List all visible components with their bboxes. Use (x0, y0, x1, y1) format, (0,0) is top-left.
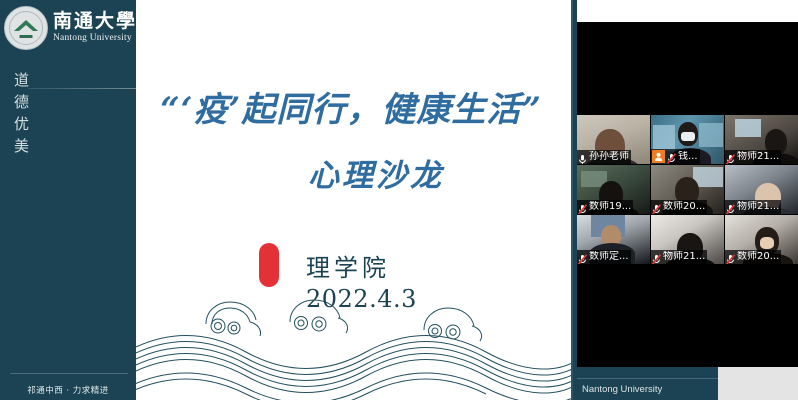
sidebar-footer-motto: 祁通中西 · 力求精进 (0, 384, 136, 396)
mic-off-icon (667, 151, 676, 162)
mic-off-icon (578, 202, 587, 213)
participant-tile[interactable]: 物师21... (725, 165, 798, 214)
participant-label: 孙孙老师 (577, 150, 631, 164)
mic-off-icon (652, 252, 661, 263)
mic-off-icon (726, 252, 735, 263)
participant-tile[interactable]: 数师定... (577, 215, 650, 264)
screenshot-root: 南通大學 Nantong University 道德优美 祁通中西 · 力求精进… (0, 0, 798, 400)
participant-tile[interactable]: 数师20... (651, 165, 724, 214)
video-panel-top-gap (573, 0, 798, 22)
participant-tile[interactable]: 孙孙老师 (577, 115, 650, 164)
video-conference-panel: 孙孙老师 (573, 0, 798, 400)
mic-on-icon (578, 152, 587, 163)
mic-off-icon (726, 202, 735, 213)
slide-sidebar: 南通大學 Nantong University 道德优美 祁通中西 · 力求精进 (0, 0, 136, 400)
participant-label: 物师21... (725, 150, 781, 164)
participant-label: 物师21... (651, 250, 707, 264)
university-name-en: Nantong University (53, 34, 137, 44)
bottom-status-bar: Nantong University (573, 367, 718, 400)
bottom-bar-divider (573, 378, 718, 379)
participant-tile[interactable]: 物师21... (725, 115, 798, 164)
video-panel-inner: 孙孙老师 (577, 22, 798, 367)
chinese-wave-pattern-icon (136, 290, 573, 400)
participant-name: 钱... (678, 151, 698, 163)
participant-label: 数师20... (725, 250, 781, 264)
participant-label: 数师19... (577, 200, 633, 214)
participant-tile[interactable]: 物师21... (651, 215, 724, 264)
participant-tile[interactable]: 数师19... (577, 165, 650, 214)
sidebar-divider (28, 88, 136, 89)
sidebar-footer-divider (10, 373, 128, 374)
avatar (652, 150, 665, 163)
university-name-cn: 南通大學 (53, 12, 137, 31)
slide-title-line-2: 心理沙龙 (176, 150, 573, 195)
slide-body: “‘疫’起同行，健康生活” 心理沙龙 理学院 2022.4.3 (136, 0, 573, 400)
nantong-university-seal-icon (4, 6, 48, 50)
participant-label: 钱... (651, 149, 700, 164)
university-brand: 南通大學 Nantong University (4, 6, 137, 50)
participant-name: 物师21... (737, 201, 779, 213)
participant-name: 孙孙老师 (589, 151, 629, 163)
video-panel-left-edge (573, 0, 577, 400)
participant-name: 数师20... (737, 251, 779, 263)
participant-name: 数师20... (663, 201, 705, 213)
participant-tile[interactable]: 数师20... (725, 215, 798, 264)
participant-label: 数师定... (577, 250, 631, 264)
participant-tile[interactable]: 钱... (651, 115, 724, 164)
presentation-slide: 南通大學 Nantong University 道德优美 祁通中西 · 力求精进… (0, 0, 573, 400)
participant-name: 数师19... (589, 201, 631, 213)
red-seal-mark-icon (259, 243, 279, 287)
slide-title-line-1: “‘疫’起同行，健康生活” (126, 82, 573, 131)
participant-label: 物师21... (725, 200, 781, 214)
participant-name: 数师定... (589, 251, 629, 263)
participant-name: 物师21... (737, 151, 779, 163)
mic-off-icon (726, 152, 735, 163)
participant-label: 数师20... (651, 200, 707, 214)
participant-name: 物师21... (663, 251, 705, 263)
vertical-motto-text: 道德优美 (8, 72, 32, 160)
bottom-bar-title: Nantong University (582, 384, 662, 395)
mic-off-icon (652, 202, 661, 213)
slide-organizer: 理学院 (306, 248, 390, 283)
bottom-right-blank-area (718, 367, 798, 400)
participant-grid: 孙孙老师 (577, 115, 798, 264)
mic-off-icon (578, 252, 587, 263)
